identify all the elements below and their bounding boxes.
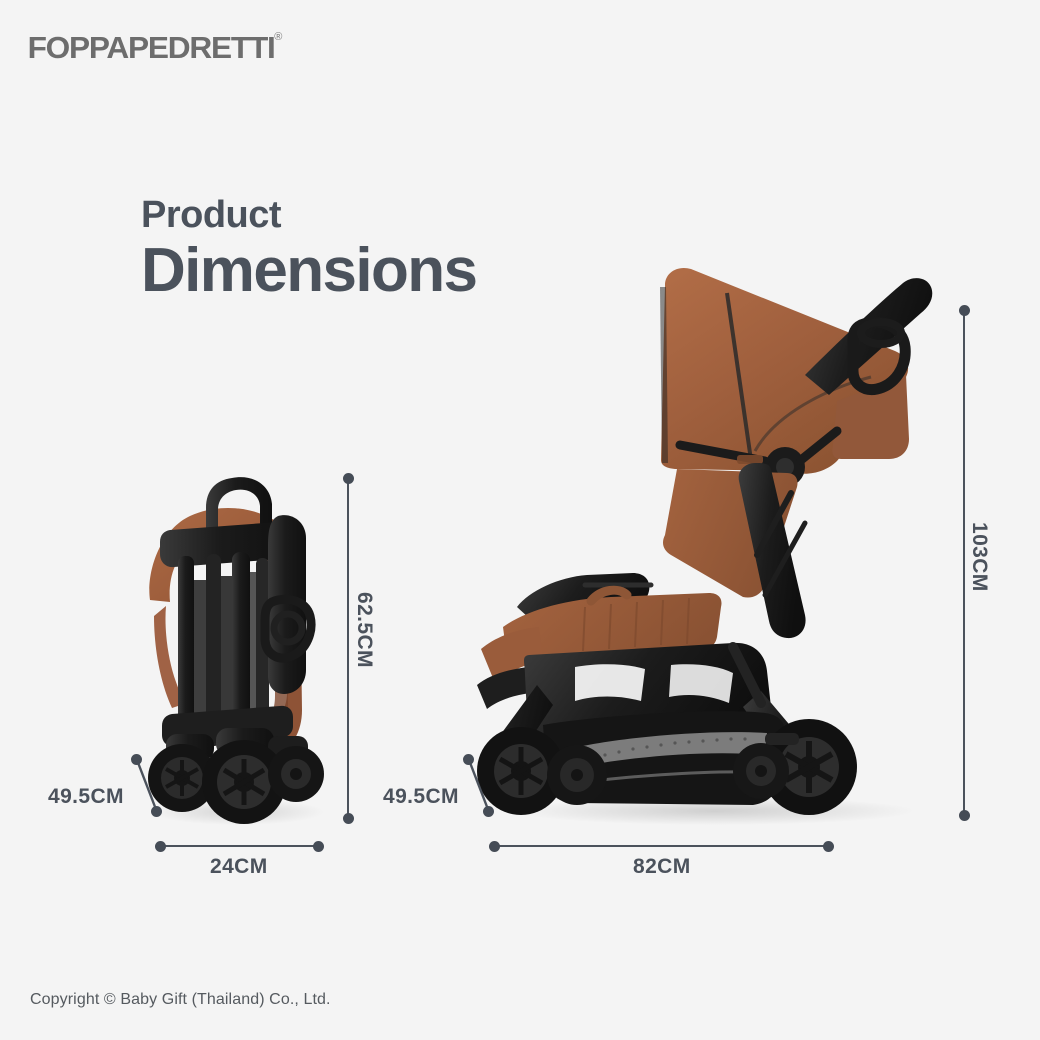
page-title: Product Dimensions (141, 196, 476, 305)
dimension-line-open-length (494, 845, 828, 847)
dimension-endpoint-folded-width-right (313, 841, 324, 852)
dimension-endpoint-open-depth-bottom (483, 806, 494, 817)
brand-logo: FOPPAPEDRETTI ® (30, 30, 282, 66)
dimension-line-open-height (963, 310, 965, 815)
dimension-line-folded-width (160, 845, 318, 847)
dimension-endpoint-folded-depth-top (131, 754, 142, 765)
page-title-line1: Product (141, 196, 476, 234)
dimension-line-folded-height (347, 478, 349, 818)
dimension-label-folded-width: 24CM (210, 855, 268, 879)
infographic-canvas: FOPPAPEDRETTI ® Product Dimensions (0, 0, 1040, 1040)
dimension-label-folded-depth: 49.5CM (48, 785, 124, 809)
dimension-endpoint-open-length-left (489, 841, 500, 852)
open-stroller-image (465, 255, 940, 830)
dimension-label-open-depth: 49.5CM (383, 785, 459, 809)
dimension-endpoint-open-depth-top (463, 754, 474, 765)
dimension-endpoint-open-height-bottom (959, 810, 970, 821)
dimension-label-open-length: 82CM (633, 855, 691, 879)
copyright-notice: Copyright © Baby Gift (Thailand) Co., Lt… (30, 991, 331, 1009)
dimension-endpoint-open-height-top (959, 305, 970, 316)
registered-trademark-icon: ® (274, 31, 282, 43)
dimension-label-folded-height: 62.5CM (352, 592, 376, 668)
brand-wordmark: FOPPAPEDRETTI (28, 30, 275, 66)
page-title-line2: Dimensions (141, 238, 476, 305)
dimension-label-open-height: 103CM (967, 522, 991, 592)
dimension-endpoint-folded-height-top (343, 473, 354, 484)
dimension-endpoint-folded-width-left (155, 841, 166, 852)
dimension-endpoint-folded-height-bottom (343, 813, 354, 824)
dimension-endpoint-folded-depth-bottom (151, 806, 162, 817)
dimension-endpoint-open-length-right (823, 841, 834, 852)
